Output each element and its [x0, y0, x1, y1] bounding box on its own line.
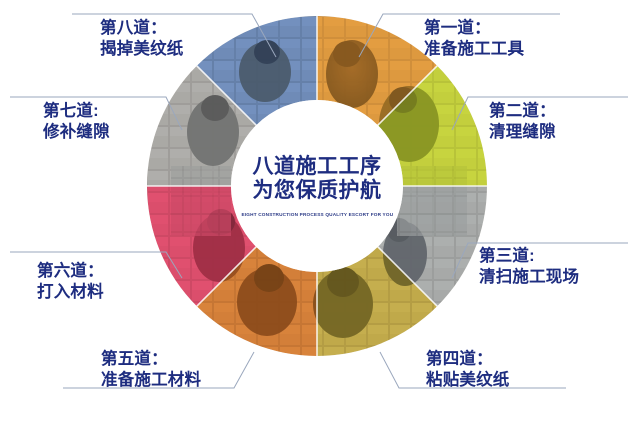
- step-label-7[interactable]: 第七道: 修补缝隙: [43, 101, 110, 143]
- step-label-8-line1: 第八道：: [100, 18, 184, 39]
- step-label-4[interactable]: 第四道： 粘贴美纹纸: [426, 349, 510, 391]
- center-title-line1: 八道施工工序: [253, 155, 382, 179]
- step-label-1-line1: 第一道：: [424, 18, 524, 39]
- step-label-5[interactable]: 第五道： 准备施工材料: [101, 349, 201, 391]
- step-label-7-line1: 第七道:: [43, 101, 110, 122]
- step-label-4-line2: 粘贴美纹纸: [426, 370, 510, 391]
- step-label-6-line2: 打入材料: [37, 282, 104, 303]
- step-label-5-line2: 准备施工材料: [101, 370, 201, 391]
- step-label-2[interactable]: 第二道： 清理缝隙: [489, 101, 556, 143]
- step-label-2-line1: 第二道：: [489, 101, 556, 122]
- step-label-3-line2: 清扫施工现场: [479, 267, 579, 288]
- center-label-circle: 八道施工工序 为您保质护航 EIGHT CONSTRUCTION PROCESS…: [231, 100, 403, 272]
- step-label-4-line1: 第四道：: [426, 349, 510, 370]
- step-label-8-line2: 揭掉美纹纸: [100, 39, 184, 60]
- step-label-5-line1: 第五道：: [101, 349, 201, 370]
- step-label-1[interactable]: 第一道： 准备施工工具: [424, 18, 524, 60]
- step-label-3[interactable]: 第三道: 清扫施工现场: [479, 246, 579, 288]
- step-label-6[interactable]: 第六道： 打入材料: [37, 261, 104, 303]
- center-subtitle: EIGHT CONSTRUCTION PROCESS QUALITY ESCOR…: [241, 212, 393, 217]
- step-label-7-line2: 修补缝隙: [43, 122, 110, 143]
- infographic-canvas: 八道施工工序 为您保质护航 EIGHT CONSTRUCTION PROCESS…: [0, 0, 628, 427]
- step-label-6-line1: 第六道：: [37, 261, 104, 282]
- center-title-line2: 为您保质护航: [253, 179, 382, 203]
- step-label-1-line2: 准备施工工具: [424, 39, 524, 60]
- step-label-8[interactable]: 第八道： 揭掉美纹纸: [100, 18, 184, 60]
- step-label-2-line2: 清理缝隙: [489, 122, 556, 143]
- step-label-3-line1: 第三道:: [479, 246, 579, 267]
